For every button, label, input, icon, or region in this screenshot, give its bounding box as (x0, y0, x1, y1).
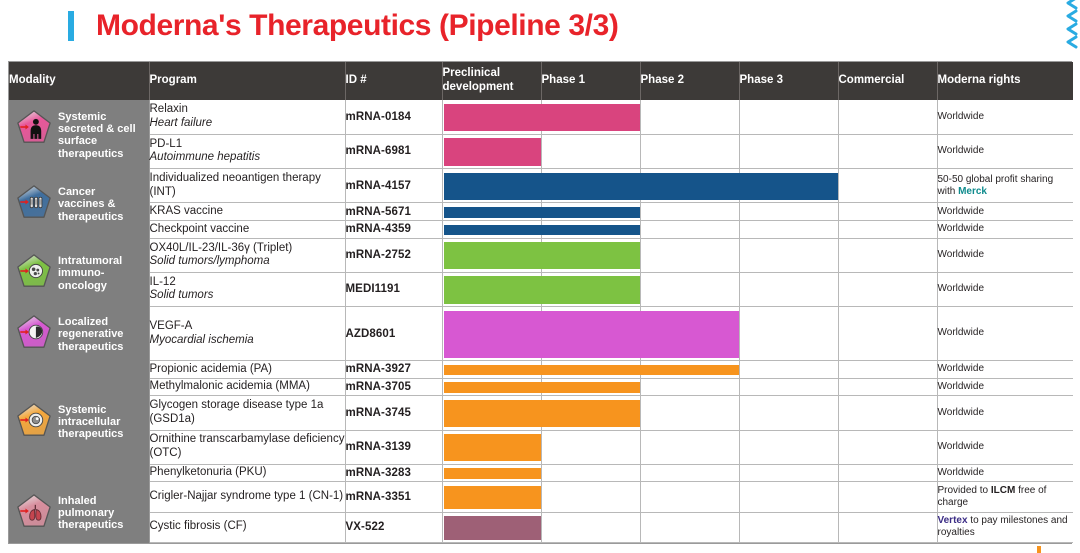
program-id: mRNA-4157 (345, 169, 442, 203)
table-row: Methylmalonic acidemia (MMA)mRNA-3705Wor… (9, 378, 1073, 396)
moderna-rights-cell: Worldwide (937, 396, 1073, 430)
phase2-cell (640, 378, 739, 396)
phase3-cell (739, 512, 838, 542)
moderna-rights-cell: Worldwide (937, 378, 1073, 396)
program-indication: Myocardial ischemia (150, 334, 345, 348)
program-id: mRNA-3705 (345, 378, 442, 396)
moderna-rights-cell: Vertex to pay milestones and royalties (937, 512, 1073, 542)
phase3-cell (739, 307, 838, 361)
moderna-rights-cell: Worldwide (937, 272, 1073, 306)
program-cell: Methylmalonic acidemia (MMA) (149, 378, 345, 396)
program-name: Glycogen storage disease type 1a (GSD1a) (150, 399, 324, 425)
slide-title-row: Moderna's Therapeutics (Pipeline 3/3) (0, 4, 1020, 48)
phase1-cell (541, 482, 640, 512)
program-id: mRNA-2752 (345, 238, 442, 272)
program-cell: RelaxinHeart failure (149, 100, 345, 134)
phase3-cell (739, 238, 838, 272)
phase3-cell (739, 272, 838, 306)
program-name: Propionic acidemia (PA) (150, 363, 273, 375)
program-id: mRNA-4359 (345, 221, 442, 239)
phase1-cell (541, 203, 640, 221)
preclinical-cell (442, 430, 541, 464)
phase2-cell (640, 134, 739, 169)
moderna-rights-cell: Worldwide (937, 203, 1073, 221)
commercial-cell (838, 430, 937, 464)
phase1-cell (541, 512, 640, 542)
modality-label: Systemic intracellular therapeutics (58, 402, 145, 441)
program-name: Cystic fibrosis (CF) (150, 520, 247, 532)
table-row: Checkpoint vaccinemRNA-4359Worldwide (9, 221, 1073, 239)
modality-cell: Inhaled pulmonary therapeutics (9, 482, 149, 543)
program-cell: Crigler-Najjar syndrome type 1 (CN-1) (149, 482, 345, 512)
commercial-cell (838, 134, 937, 169)
moderna-rights-cell: Worldwide (937, 361, 1073, 379)
preclinical-cell (442, 464, 541, 482)
commercial-cell (838, 307, 937, 361)
modality-label: Localized regenerative therapeutics (58, 314, 145, 353)
program-cell: Individualized neoantigen therapy (INT) (149, 169, 345, 203)
table-row: KRAS vaccinemRNA-5671Worldwide (9, 203, 1073, 221)
phase2-cell (640, 361, 739, 379)
table-row: Inhaled pulmonary therapeuticsCrigler-Na… (9, 482, 1073, 512)
pentagon-vaccine-vial-icon (15, 184, 53, 220)
modality-cell: Intratumoral immuno-oncology (9, 238, 149, 306)
table-row: PD-L1Autoimmune hepatitismRNA-6981Worldw… (9, 134, 1073, 169)
table-row: Glycogen storage disease type 1a (GSD1a)… (9, 396, 1073, 430)
phase1-cell (541, 169, 640, 203)
commercial-cell (838, 464, 937, 482)
program-name: OX40L/IL-23/IL-36γ (Triplet) (150, 242, 293, 254)
moderna-rights-cell: Worldwide (937, 134, 1073, 169)
program-id: mRNA-5671 (345, 203, 442, 221)
pentagon-person-icon (15, 109, 53, 145)
preclinical-cell (442, 482, 541, 512)
pipeline-table: Modality Program ID # Preclinical develo… (8, 61, 1072, 544)
table-header: Modality Program ID # Preclinical develo… (9, 62, 1073, 100)
program-name: Methylmalonic acidemia (MMA) (150, 380, 310, 392)
preclinical-cell (442, 307, 541, 361)
moderna-rights-cell: Worldwide (937, 430, 1073, 464)
phase1-cell (541, 307, 640, 361)
commercial-cell (838, 238, 937, 272)
phase3-cell (739, 169, 838, 203)
program-id: VX-522 (345, 512, 442, 542)
phase2-cell (640, 203, 739, 221)
table-header-row: Modality Program ID # Preclinical develo… (9, 62, 1073, 100)
program-name: KRAS vaccine (150, 205, 224, 217)
phase2-cell (640, 482, 739, 512)
phase1-cell (541, 134, 640, 169)
col-header-id: ID # (345, 62, 442, 100)
table-row: Systemic intracellular therapeuticsPropi… (9, 361, 1073, 379)
moderna-rights-cell: 50-50 global profit sharing with Merck (937, 169, 1073, 203)
program-id: mRNA-3283 (345, 464, 442, 482)
phase1-cell (541, 464, 640, 482)
program-id: mRNA-0184 (345, 100, 442, 134)
col-header-phase1: Phase 1 (541, 62, 640, 100)
table-row: Cancer vaccines & therapeuticsIndividual… (9, 169, 1073, 203)
title-accent-bar (68, 11, 74, 41)
pentagon-cell-nucleus-icon (15, 402, 53, 438)
pentagon-heart-icon (15, 314, 53, 350)
phase2-cell (640, 100, 739, 134)
program-cell: OX40L/IL-23/IL-36γ (Triplet)Solid tumors… (149, 238, 345, 272)
preclinical-cell (442, 378, 541, 396)
modality-cell: Cancer vaccines & therapeutics (9, 169, 149, 238)
col-header-program: Program (149, 62, 345, 100)
program-name: Checkpoint vaccine (150, 223, 250, 235)
program-id: mRNA-3351 (345, 482, 442, 512)
modality-cell: Localized regenerative therapeutics (9, 307, 149, 361)
modality-label: Systemic secreted & cell surface therape… (58, 109, 145, 161)
phase3-cell (739, 134, 838, 169)
commercial-cell (838, 396, 937, 430)
commercial-cell (838, 272, 937, 306)
program-cell: Propionic acidemia (PA) (149, 361, 345, 379)
program-cell: Phenylketonuria (PKU) (149, 464, 345, 482)
program-cell: Cystic fibrosis (CF) (149, 512, 345, 542)
phase3-cell (739, 430, 838, 464)
program-id: mRNA-6981 (345, 134, 442, 169)
preclinical-cell (442, 512, 541, 542)
col-header-phase2: Phase 2 (640, 62, 739, 100)
program-name: Crigler-Najjar syndrome type 1 (CN-1) (150, 490, 344, 502)
program-cell: Glycogen storage disease type 1a (GSD1a) (149, 396, 345, 430)
commercial-cell (838, 203, 937, 221)
preclinical-cell (442, 396, 541, 430)
phase3-cell (739, 482, 838, 512)
table-row: Cystic fibrosis (CF)VX-522Vertex to pay … (9, 512, 1073, 542)
program-id: mRNA-3139 (345, 430, 442, 464)
table-body: Systemic secreted & cell surface therape… (9, 100, 1073, 543)
preclinical-cell (442, 272, 541, 306)
commercial-cell (838, 100, 937, 134)
phase2-cell (640, 169, 739, 203)
commercial-cell (838, 221, 937, 239)
moderna-rights-cell: Worldwide (937, 221, 1073, 239)
col-header-preclinical: Preclinical development (442, 62, 541, 100)
program-cell: Checkpoint vaccine (149, 221, 345, 239)
program-cell: PD-L1Autoimmune hepatitis (149, 134, 345, 169)
program-id: MEDI1191 (345, 272, 442, 306)
phase2-cell (640, 272, 739, 306)
program-name: PD-L1 (150, 138, 183, 150)
phase3-cell (739, 221, 838, 239)
moderna-rights-cell: Worldwide (937, 464, 1073, 482)
page-title: Moderna's Therapeutics (Pipeline 3/3) (96, 9, 618, 43)
program-indication: Autoimmune hepatitis (150, 151, 345, 165)
program-name: VEGF-A (150, 320, 193, 332)
phase1-cell (541, 238, 640, 272)
program-id: mRNA-3745 (345, 396, 442, 430)
program-cell: IL-12Solid tumors (149, 272, 345, 306)
table-row: Phenylketonuria (PKU)mRNA-3283Worldwide (9, 464, 1073, 482)
phase2-cell (640, 396, 739, 430)
phase2-cell (640, 430, 739, 464)
phase2-cell (640, 512, 739, 542)
phase1-cell (541, 396, 640, 430)
moderna-rights-cell: Provided to ILCM free of charge (937, 482, 1073, 512)
pentagon-lungs-icon (15, 493, 53, 529)
col-header-modality: Modality (9, 62, 149, 100)
phase3-cell (739, 464, 838, 482)
program-id: mRNA-3927 (345, 361, 442, 379)
commercial-cell (838, 378, 937, 396)
preclinical-cell (442, 203, 541, 221)
commercial-cell (838, 512, 937, 542)
pentagon-tumor-cell-icon (15, 253, 53, 289)
preclinical-cell (442, 361, 541, 379)
modality-cell: Systemic intracellular therapeutics (9, 361, 149, 482)
table-row: Ornithine transcarbamylase deficiency (O… (9, 430, 1073, 464)
phase3-cell (739, 378, 838, 396)
phase1-cell (541, 378, 640, 396)
phase1-cell (541, 272, 640, 306)
table-row: Intratumoral immuno-oncologyOX40L/IL-23/… (9, 238, 1073, 272)
phase2-cell (640, 464, 739, 482)
program-name: Individualized neoantigen therapy (INT) (150, 172, 321, 198)
program-indication: Solid tumors (150, 289, 345, 303)
program-name: Phenylketonuria (PKU) (150, 466, 267, 478)
pipeline-table-element: Modality Program ID # Preclinical develo… (9, 62, 1073, 543)
preclinical-cell (442, 169, 541, 203)
program-name: Relaxin (150, 103, 188, 115)
phase3-cell (739, 361, 838, 379)
phase1-cell (541, 100, 640, 134)
moderna-rights-cell: Worldwide (937, 307, 1073, 361)
commercial-cell (838, 361, 937, 379)
phase1-cell (541, 221, 640, 239)
program-cell: KRAS vaccine (149, 203, 345, 221)
commercial-cell (838, 169, 937, 203)
table-row: Localized regenerative therapeuticsVEGF-… (9, 307, 1073, 361)
preclinical-cell (442, 100, 541, 134)
program-name: Ornithine transcarbamylase deficiency (O… (150, 433, 345, 459)
phase3-cell (739, 396, 838, 430)
slide-root: Moderna's Therapeutics (Pipeline 3/3) Mo… (0, 0, 1080, 553)
modality-label: Inhaled pulmonary therapeutics (58, 493, 145, 532)
program-name: IL-12 (150, 276, 176, 288)
preclinical-cell (442, 134, 541, 169)
phase2-cell (640, 307, 739, 361)
modality-label: Intratumoral immuno-oncology (58, 253, 145, 292)
table-row: Systemic secreted & cell surface therape… (9, 100, 1073, 134)
preclinical-cell (442, 221, 541, 239)
col-header-phase3: Phase 3 (739, 62, 838, 100)
moderna-rights-cell: Worldwide (937, 238, 1073, 272)
col-header-rights: Moderna rights (937, 62, 1073, 100)
footer-tick-mark (1037, 546, 1041, 553)
phase3-cell (739, 100, 838, 134)
program-cell: VEGF-AMyocardial ischemia (149, 307, 345, 361)
phase3-cell (739, 203, 838, 221)
modality-label: Cancer vaccines & therapeutics (58, 184, 145, 223)
preclinical-cell (442, 238, 541, 272)
moderna-logo-chevrons-icon (1058, 0, 1080, 54)
phase2-cell (640, 221, 739, 239)
commercial-cell (838, 482, 937, 512)
phase2-cell (640, 238, 739, 272)
program-indication: Solid tumors/lymphoma (150, 255, 345, 269)
phase1-cell (541, 430, 640, 464)
phase1-cell (541, 361, 640, 379)
program-cell: Ornithine transcarbamylase deficiency (O… (149, 430, 345, 464)
program-indication: Heart failure (150, 117, 345, 131)
table-row: IL-12Solid tumorsMEDI1191Worldwide (9, 272, 1073, 306)
program-id: AZD8601 (345, 307, 442, 361)
modality-cell: Systemic secreted & cell surface therape… (9, 100, 149, 169)
moderna-rights-cell: Worldwide (937, 100, 1073, 134)
col-header-commercial: Commercial (838, 62, 937, 100)
